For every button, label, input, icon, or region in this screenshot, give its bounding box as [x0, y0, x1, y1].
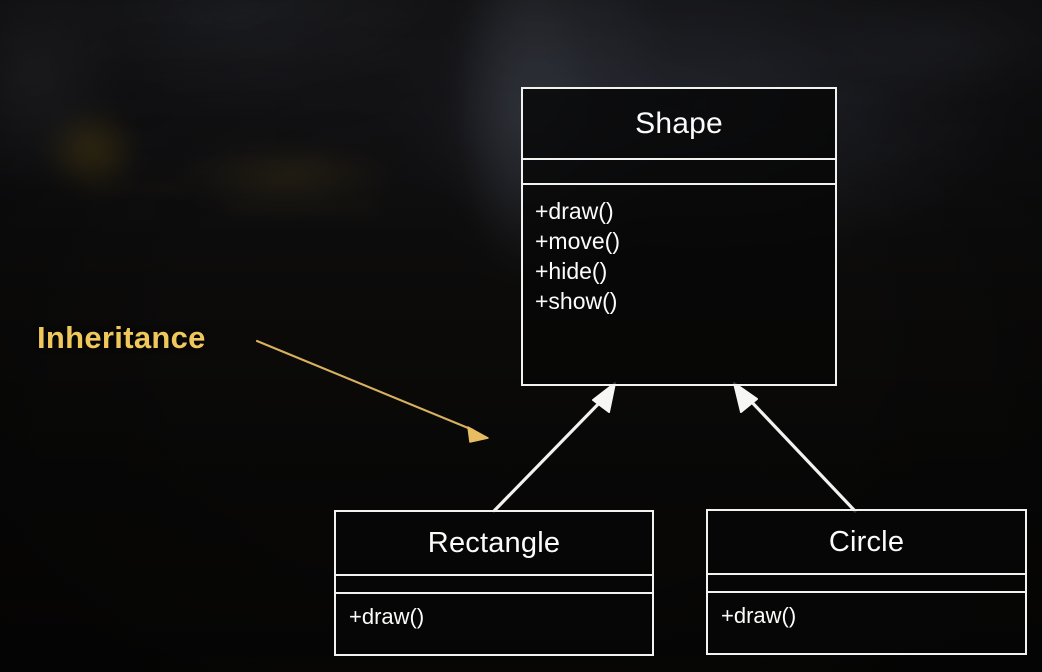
uml-class-rectangle[interactable]: Rectangle +draw() — [334, 510, 654, 656]
operation-item: +draw() — [721, 602, 1025, 631]
class-name-rectangle: Rectangle — [336, 512, 652, 576]
uml-class-shape[interactable]: Shape +draw() +move() +hide() +show() — [521, 87, 837, 386]
operation-item: +move() — [535, 227, 835, 257]
operation-item: +hide() — [535, 257, 835, 287]
operation-item: +draw() — [349, 603, 652, 632]
class-operations-circle: +draw() — [708, 593, 1025, 653]
class-operations-rectangle: +draw() — [336, 594, 652, 654]
class-name-circle: Circle — [708, 511, 1025, 575]
class-attributes-rectangle — [336, 576, 652, 594]
class-operations-shape: +draw() +move() +hide() +show() — [523, 185, 835, 384]
class-name-shape: Shape — [523, 89, 835, 160]
operation-item: +show() — [535, 287, 835, 317]
class-attributes-circle — [708, 575, 1025, 593]
uml-class-circle[interactable]: Circle +draw() — [706, 509, 1027, 655]
annotation-label-inheritance: Inheritance — [37, 320, 206, 356]
operation-item: +draw() — [535, 197, 835, 227]
diagram-canvas: Shape +draw() +move() +hide() +show() Re… — [0, 0, 1042, 672]
class-attributes-shape — [523, 160, 835, 185]
